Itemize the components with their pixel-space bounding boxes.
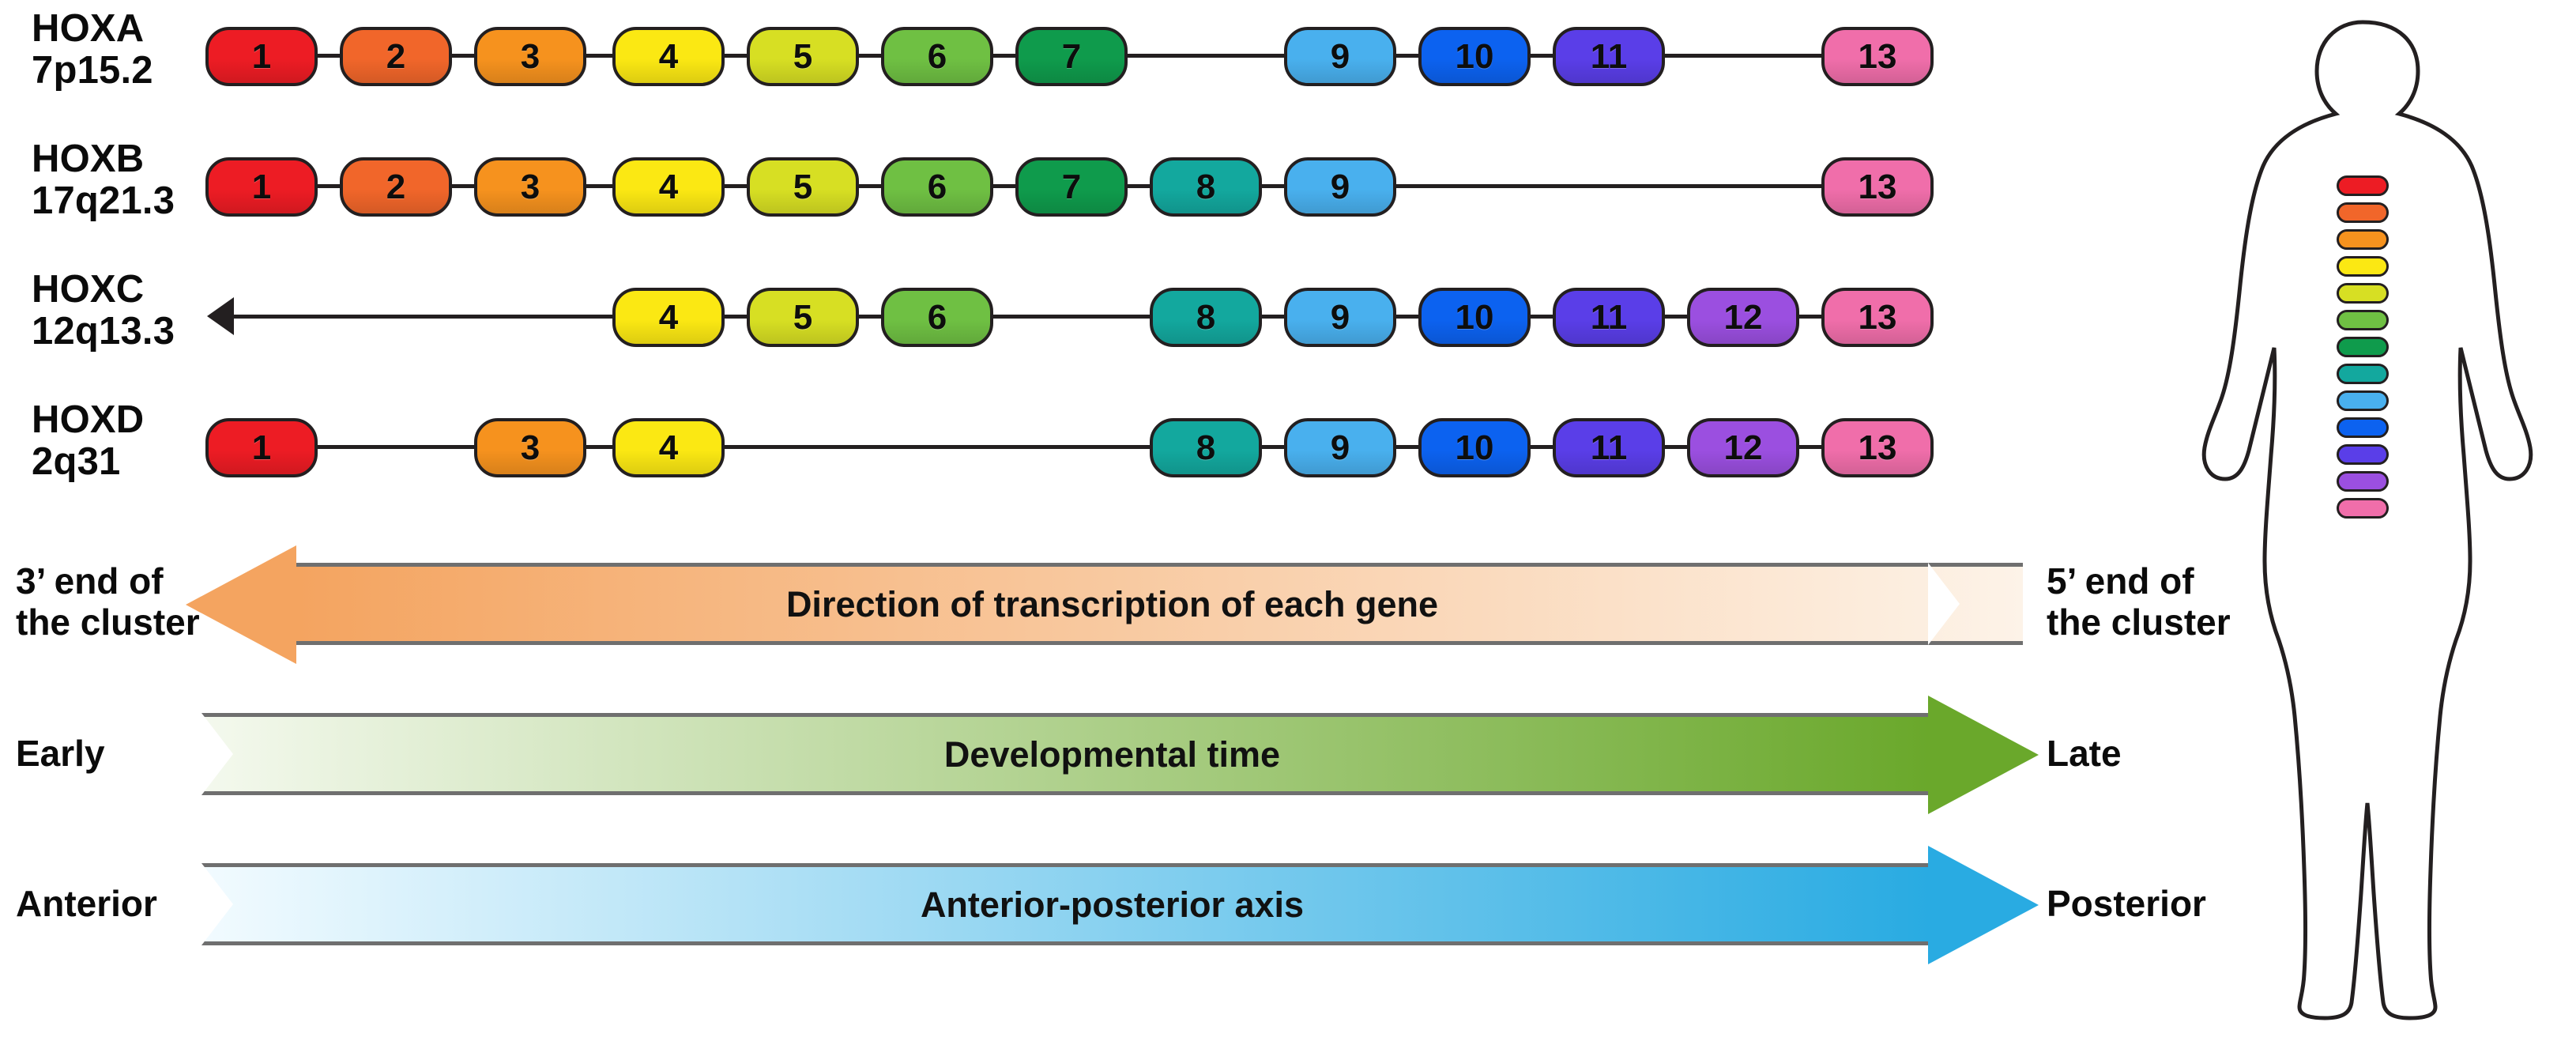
axis-developmental-time: EarlyLateDevelopmental time: [0, 696, 2133, 814]
cluster-name: HOXB: [32, 138, 144, 180]
gene-box[interactable]: 4: [612, 418, 725, 477]
cluster-name: HOXC: [32, 268, 144, 311]
gene-box[interactable]: 9: [1284, 157, 1396, 217]
cluster-track: 12345678913: [182, 138, 1999, 233]
cluster-name: HOXA: [32, 7, 144, 50]
gene-box[interactable]: 2: [340, 157, 452, 217]
vertebra-segment: [2337, 256, 2389, 277]
gene-number: 12: [1724, 298, 1763, 338]
gene-box[interactable]: 8: [1150, 157, 1262, 217]
axis-anterior-posterior: AnteriorPosteriorAnterior-posterior axis: [0, 846, 2133, 964]
axis-caption: Anterior-posterior axis: [201, 846, 2023, 964]
gene-number: 3: [521, 37, 540, 77]
cluster-track: 1348910111213: [182, 399, 1999, 494]
gene-number: 11: [1591, 37, 1628, 77]
gene-number: 9: [1331, 37, 1350, 77]
gene-box[interactable]: 13: [1821, 157, 1934, 217]
gene-number: 10: [1456, 37, 1494, 77]
vertebra-segment: [2337, 471, 2389, 492]
axis-arrow-shape: Anterior-posterior axis: [0, 846, 2133, 964]
gene-box[interactable]: 6: [881, 27, 993, 86]
cluster-row-hoxa: HOXA7p15.212345679101113: [0, 8, 2054, 103]
gene-box[interactable]: 6: [881, 157, 993, 217]
gene-number: 5: [793, 298, 812, 338]
gene-number: 2: [386, 37, 405, 77]
gene-number: 12: [1724, 428, 1763, 468]
gene-number: 6: [928, 298, 947, 338]
vertebra-segment: [2337, 498, 2389, 519]
chromosome-line: [226, 315, 1934, 319]
vertebra-segment: [2337, 390, 2389, 411]
vertebra-segment: [2337, 337, 2389, 357]
gene-number: 2: [386, 168, 405, 207]
gene-number: 4: [659, 37, 678, 77]
gene-box[interactable]: 1: [205, 27, 318, 86]
vertebra-segment: [2337, 283, 2389, 304]
gene-number: 10: [1456, 428, 1494, 468]
gene-number: 11: [1591, 298, 1628, 338]
gene-number: 4: [659, 168, 678, 207]
gene-number: 9: [1331, 298, 1350, 338]
gene-number: 13: [1859, 37, 1897, 77]
gene-number: 8: [1196, 298, 1215, 338]
cluster-name: HOXD: [32, 398, 144, 441]
gene-box[interactable]: 5: [747, 27, 859, 86]
gene-box[interactable]: 13: [1821, 27, 1934, 86]
gene-box[interactable]: 9: [1284, 27, 1396, 86]
vertebra-segment: [2337, 202, 2389, 223]
gene-box[interactable]: 11: [1553, 27, 1665, 86]
gene-box[interactable]: 2: [340, 27, 452, 86]
gene-box[interactable]: 7: [1015, 27, 1128, 86]
gene-number: 4: [659, 298, 678, 338]
gene-box[interactable]: 5: [747, 288, 859, 347]
gene-number: 8: [1196, 428, 1215, 468]
vertebra-segment: [2337, 364, 2389, 384]
gene-box[interactable]: 11: [1553, 288, 1665, 347]
axis-arrow-shape: Developmental time: [0, 696, 2133, 814]
vertebra-segment: [2337, 444, 2389, 465]
gene-number: 6: [928, 168, 947, 207]
cluster-track: 12345679101113: [182, 8, 1999, 103]
vertebra-segment: [2337, 175, 2389, 196]
gene-number: 4: [659, 428, 678, 468]
gene-number: 7: [1062, 37, 1081, 77]
vertebra-segment: [2337, 310, 2389, 330]
gene-number: 3: [521, 168, 540, 207]
gene-box[interactable]: 4: [612, 157, 725, 217]
gene-number: 8: [1196, 168, 1215, 207]
gene-box[interactable]: 1: [205, 157, 318, 217]
transcription-arrowhead-icon: [207, 297, 234, 335]
gene-box[interactable]: 3: [474, 27, 586, 86]
gene-number: 5: [793, 168, 812, 207]
gene-box[interactable]: 6: [881, 288, 993, 347]
gene-box[interactable]: 12: [1687, 288, 1799, 347]
gene-box[interactable]: 11: [1553, 418, 1665, 477]
hox-cluster-diagram: HOXA7p15.212345679101113HOXB17q21.312345…: [0, 0, 2576, 1041]
gene-box[interactable]: 4: [612, 27, 725, 86]
vertebra-segment: [2337, 229, 2389, 250]
gene-box[interactable]: 10: [1418, 288, 1531, 347]
gene-box[interactable]: 3: [474, 157, 586, 217]
gene-box[interactable]: 9: [1284, 288, 1396, 347]
gene-box[interactable]: 13: [1821, 418, 1934, 477]
gene-number: 9: [1331, 428, 1350, 468]
gene-box[interactable]: 9: [1284, 418, 1396, 477]
axis-arrow-shape: Direction of transcription of each gene: [0, 545, 2133, 664]
gene-number: 1: [252, 37, 271, 77]
gene-number: 6: [928, 37, 947, 77]
human-body-figure: [2181, 8, 2544, 1028]
cluster-track: 4568910111213: [182, 269, 1999, 364]
gene-box[interactable]: 10: [1418, 27, 1531, 86]
gene-box[interactable]: 13: [1821, 288, 1934, 347]
cluster-row-hoxb: HOXB17q21.312345678913: [0, 138, 2054, 233]
gene-box[interactable]: 1: [205, 418, 318, 477]
gene-number: 11: [1591, 428, 1628, 468]
gene-box[interactable]: 4: [612, 288, 725, 347]
gene-number: 10: [1456, 298, 1494, 338]
gene-box[interactable]: 8: [1150, 418, 1262, 477]
gene-number: 13: [1859, 428, 1897, 468]
gene-number: 1: [252, 428, 271, 468]
gene-number: 3: [521, 428, 540, 468]
gene-box[interactable]: 8: [1150, 288, 1262, 347]
gene-number: 13: [1859, 298, 1897, 338]
gene-box[interactable]: 3: [474, 418, 586, 477]
axis-caption: Developmental time: [201, 696, 2023, 814]
gene-number: 13: [1859, 168, 1897, 207]
gene-number: 7: [1062, 168, 1081, 207]
vertebra-segment: [2337, 417, 2389, 438]
gene-box[interactable]: 7: [1015, 157, 1128, 217]
body-outline-path: [2204, 22, 2531, 1018]
gene-number: 5: [793, 37, 812, 77]
gene-number: 1: [252, 168, 271, 207]
axis-transcription: 3’ end ofthe cluster5’ end ofthe cluster…: [0, 545, 2133, 664]
gene-number: 9: [1331, 168, 1350, 207]
cluster-row-hoxd: HOXD2q311348910111213: [0, 399, 2054, 494]
gene-box[interactable]: 12: [1687, 418, 1799, 477]
gene-box[interactable]: 5: [747, 157, 859, 217]
cluster-row-hoxc: HOXC12q13.34568910111213: [0, 269, 2054, 364]
axis-caption: Direction of transcription of each gene: [201, 545, 2023, 664]
gene-box[interactable]: 10: [1418, 418, 1531, 477]
